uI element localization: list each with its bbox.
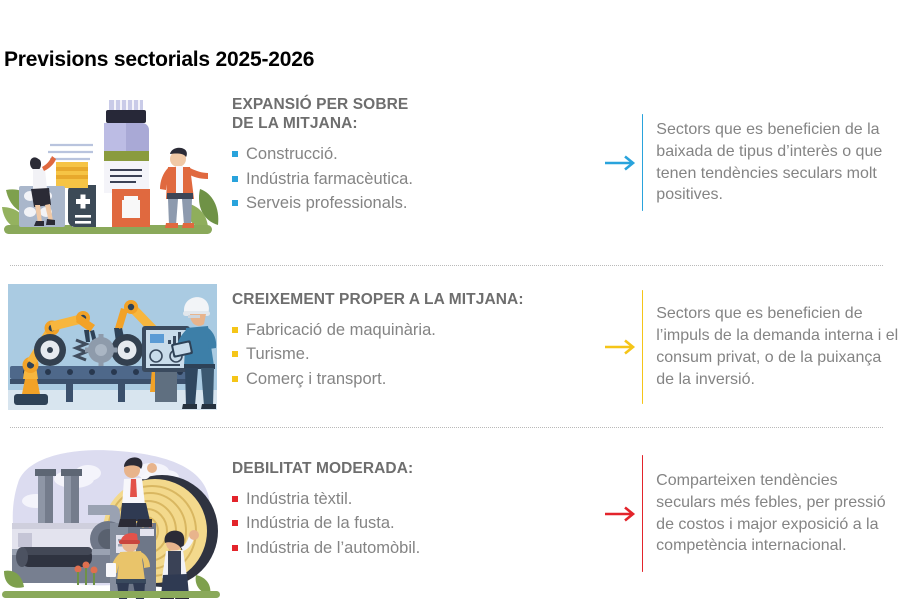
list-item: Turisme.: [232, 342, 595, 366]
note-creixement: Sectors que es beneficien de l’impuls de…: [595, 286, 900, 408]
list-item: Construcció.: [232, 142, 595, 166]
category-text-expansio: EXPANSIÓ PER SOBRE DE LA MITJANA: Constr…: [225, 95, 595, 215]
bullet-square-icon: [232, 176, 238, 182]
list-item-label: Serveis professionals.: [246, 194, 407, 212]
bullet-square-icon: [232, 545, 238, 551]
sector-list-debilitat: Indústria tèxtil. Indústria de la fusta.…: [232, 487, 595, 560]
accent-bar: [642, 290, 643, 404]
list-item-label: Indústria de la fusta.: [246, 514, 395, 532]
list-item: Serveis professionals.: [232, 191, 595, 215]
pharmaceutical-industry-illustration: [0, 95, 225, 255]
list-item-label: Turisme.: [246, 345, 310, 363]
illustration-timber: [0, 443, 225, 600]
timber-sawmill-illustration: [0, 443, 225, 600]
list-item: Indústria de l’automòbil.: [232, 536, 595, 560]
category-row-expansio: EXPANSIÓ PER SOBRE DE LA MITJANA: Constr…: [0, 95, 900, 255]
row-divider: [10, 427, 883, 428]
robotic-assembly-line-illustration: [0, 282, 225, 412]
row-divider: [10, 265, 883, 266]
category-row-creixement: CREIXEMENT PROPER A LA MITJANA: Fabricac…: [0, 282, 900, 412]
bullet-square-icon: [232, 327, 238, 333]
list-item-label: Fabricació de maquinària.: [246, 321, 436, 339]
sector-list-expansio: Construcció. Indústria farmacèutica. Ser…: [232, 142, 595, 215]
category-text-debilitat: DEBILITAT MODERADA: Indústria tèxtil. In…: [225, 443, 595, 560]
list-item-label: Indústria tèxtil.: [246, 490, 352, 508]
note-text: Sectors que es beneficien de l’impuls de…: [656, 303, 900, 391]
list-item-label: Comerç i transport.: [246, 370, 386, 388]
infographic-page: Previsions sectorials 2025-2026: [0, 0, 900, 600]
illustration-pharmaceutical: [0, 95, 225, 255]
category-heading: DEBILITAT MODERADA:: [232, 459, 595, 478]
category-heading: EXPANSIÓ PER SOBRE DE LA MITJANA:: [232, 95, 595, 133]
bullet-square-icon: [232, 200, 238, 206]
note-expansio: Sectors que es beneficien de la baixada …: [595, 110, 900, 215]
list-item: Indústria farmacèutica.: [232, 167, 595, 191]
bullet-square-icon: [232, 351, 238, 357]
bullet-square-icon: [232, 520, 238, 526]
category-row-debilitat: DEBILITAT MODERADA: Indústria tèxtil. In…: [0, 443, 900, 600]
list-item: Fabricació de maquinària.: [232, 318, 595, 342]
arrow-right-icon: [600, 337, 642, 357]
accent-bar: [642, 114, 643, 211]
arrow-right-icon: [600, 504, 642, 524]
category-heading: CREIXEMENT PROPER A LA MITJANA:: [232, 290, 595, 309]
accent-bar: [642, 455, 643, 572]
list-item: Indústria de la fusta.: [232, 511, 595, 535]
sector-list-creixement: Fabricació de maquinària. Turisme. Comer…: [232, 318, 595, 391]
note-text: Sectors que es beneficien de la baixada …: [656, 119, 900, 207]
list-item-label: Indústria farmacèutica.: [246, 170, 413, 188]
list-item: Comerç i transport.: [232, 367, 595, 391]
bullet-square-icon: [232, 151, 238, 157]
note-text: Comparteixen tendències seculars més feb…: [656, 470, 900, 558]
illustration-robotics: [0, 282, 225, 412]
category-text-creixement: CREIXEMENT PROPER A LA MITJANA: Fabricac…: [225, 282, 595, 391]
bullet-square-icon: [232, 376, 238, 382]
page-title: Previsions sectorials 2025-2026: [4, 48, 314, 72]
bullet-square-icon: [232, 496, 238, 502]
list-item-label: Indústria de l’automòbil.: [246, 539, 420, 557]
arrow-right-icon: [600, 153, 642, 173]
list-item-label: Construcció.: [246, 145, 338, 163]
note-debilitat: Comparteixen tendències seculars més feb…: [595, 451, 900, 576]
list-item: Indústria tèxtil.: [232, 487, 595, 511]
